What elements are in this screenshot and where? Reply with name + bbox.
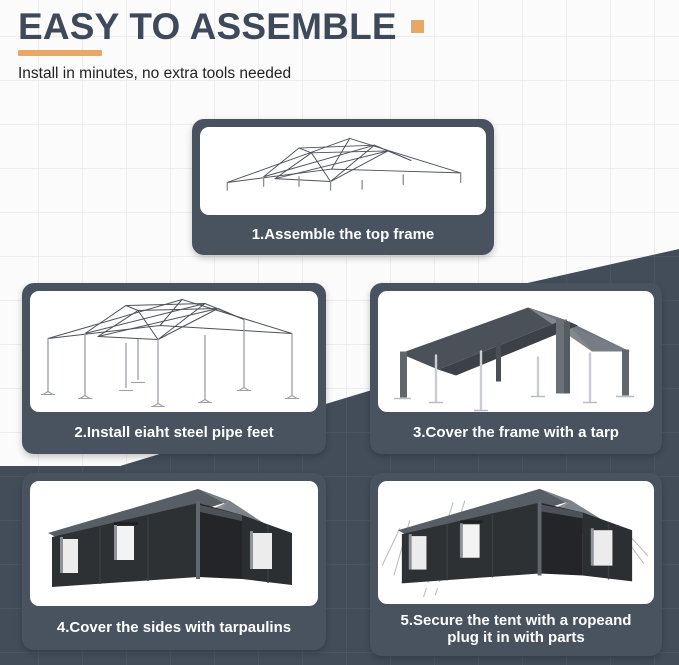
step-card-5: 5.Secure the tent with a ropeand plug it… bbox=[370, 473, 662, 656]
carport-with-walls-icon bbox=[30, 481, 318, 606]
header: EASY TO ASSEMBLE Install in minutes, no … bbox=[18, 8, 679, 85]
canopy-roof-tarp-icon bbox=[378, 291, 654, 412]
step-4-caption-line-1: 4.Cover the sides with tarpaulins bbox=[57, 620, 291, 637]
step-card-4: 4.Cover the sides with tarpaulins bbox=[22, 473, 326, 650]
page-title: EASY TO ASSEMBLE bbox=[18, 8, 397, 47]
step-card-2: 2.Install eiaht steel pipe feet bbox=[22, 283, 326, 454]
step-3-illustration bbox=[378, 291, 654, 412]
step-3-caption-line-1: 3.Cover the frame with a tarp bbox=[413, 425, 619, 442]
step-5-caption: 5.Secure the tent with a ropeand plug it… bbox=[378, 604, 654, 656]
step-2-caption-line-1: 2.Install eiaht steel pipe feet bbox=[74, 425, 273, 442]
step-4-illustration bbox=[30, 481, 318, 606]
step-4-caption: 4.Cover the sides with tarpaulins bbox=[30, 606, 318, 650]
step-1-illustration bbox=[200, 127, 486, 215]
step-3-caption: 3.Cover the frame with a tarp bbox=[378, 412, 654, 454]
step-1-caption-line-1: 1.Assemble the top frame bbox=[252, 227, 435, 244]
step-2-caption: 2.Install eiaht steel pipe feet bbox=[30, 412, 318, 454]
step-card-1: 1.Assemble the top frame bbox=[192, 119, 494, 255]
title-underline bbox=[18, 50, 102, 56]
frame-with-legs-lineart-icon bbox=[30, 291, 318, 412]
subtitle: Install in minutes, no extra tools neede… bbox=[18, 64, 318, 85]
step-2-illustration bbox=[30, 291, 318, 412]
infographic-canvas: EASY TO ASSEMBLE Install in minutes, no … bbox=[0, 0, 679, 665]
top-frame-lineart-icon bbox=[200, 127, 486, 215]
accent-square-icon bbox=[411, 20, 424, 33]
step-1-caption: 1.Assemble the top frame bbox=[200, 215, 486, 255]
step-card-3: 3.Cover the frame with a tarp bbox=[370, 283, 662, 454]
step-5-illustration bbox=[378, 481, 654, 604]
step-5-caption-line-2: plug it in with parts bbox=[401, 630, 632, 647]
carport-with-ropes-icon bbox=[378, 481, 654, 604]
step-5-caption-line-1: 5.Secure the tent with a ropeand bbox=[401, 613, 632, 630]
